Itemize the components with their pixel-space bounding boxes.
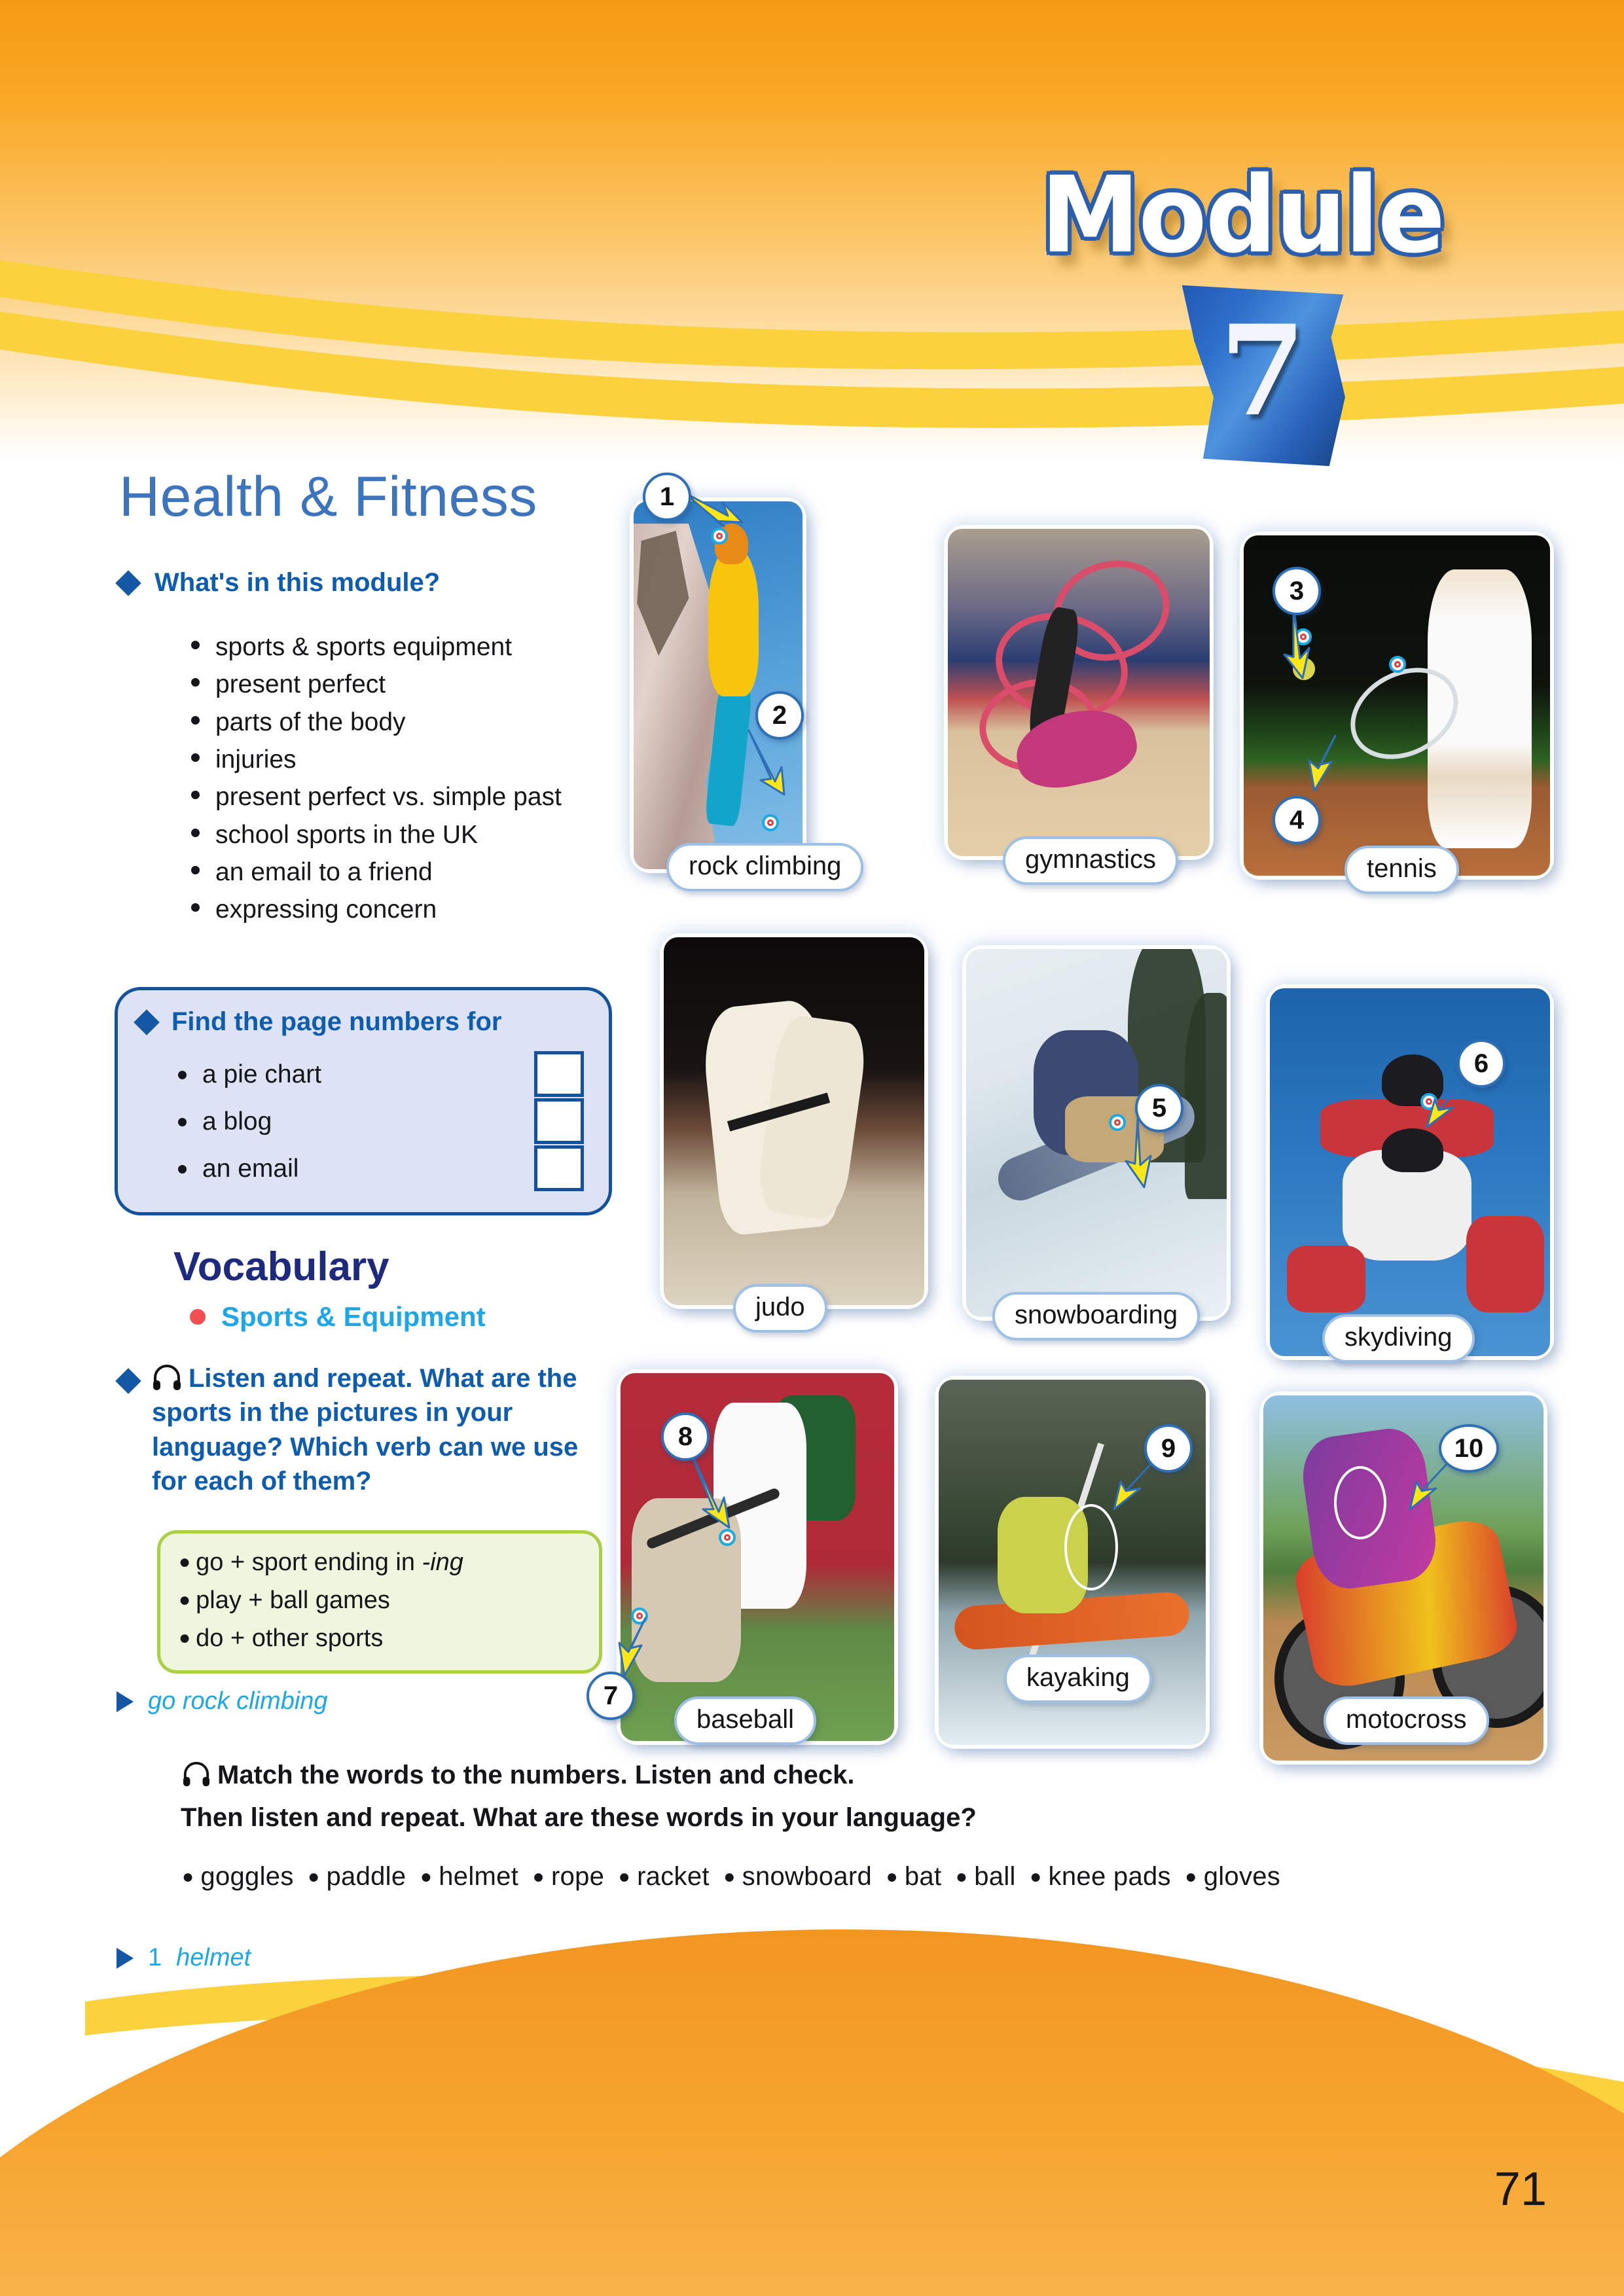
- number-badge-8: 8: [661, 1412, 710, 1461]
- answer-box-email[interactable]: [534, 1145, 584, 1191]
- list-item-label: go + sport ending in: [196, 1549, 422, 1576]
- list-item: a blog: [178, 1098, 589, 1145]
- list-item: sports & sports equipment: [191, 628, 562, 666]
- sport-card-snowboarding[interactable]: [966, 949, 1227, 1317]
- ellipse-marker-gloves: [1334, 1466, 1386, 1539]
- round-bullet-icon: [191, 903, 200, 912]
- sport-label-judo: judo: [733, 1284, 827, 1333]
- whats-in-module-heading-label: What's in this module?: [154, 568, 440, 598]
- list-item-label: injuries: [215, 741, 297, 778]
- number-badge-9: 9: [1144, 1424, 1193, 1473]
- round-bullet-icon: ●: [619, 1866, 630, 1888]
- round-bullet-icon: ●: [179, 1551, 190, 1573]
- word-item: bat: [905, 1862, 942, 1891]
- number-badge-2: 2: [755, 691, 804, 740]
- answer-boxes: [534, 1051, 584, 1193]
- list-item-label: present perfect: [215, 666, 386, 703]
- page-number: 71: [1494, 2162, 1547, 2216]
- callout-arrow-4: [1301, 713, 1354, 802]
- round-bullet-icon: ●: [308, 1866, 319, 1888]
- list-item-label: an email to a friend: [215, 853, 433, 891]
- sport-label-skydiving: skydiving: [1322, 1314, 1475, 1363]
- sport-card-gymnastics[interactable]: [948, 529, 1210, 856]
- word-item: goggles: [200, 1862, 293, 1891]
- list-item-label: sports & sports equipment: [215, 628, 512, 666]
- example-answer-1-label: go rock climbing: [148, 1687, 328, 1715]
- callout-arrow-1: [679, 484, 758, 543]
- answer-box-blog[interactable]: [534, 1098, 584, 1144]
- find-page-numbers-rows: a pie chart a blog an email: [137, 1051, 589, 1193]
- round-bullet-icon: ●: [886, 1866, 897, 1888]
- round-bullet-icon: ●: [956, 1866, 967, 1888]
- list-item-label: play + ball games: [196, 1587, 390, 1614]
- triangle-marker-icon: [117, 1691, 134, 1712]
- list-item-emphasis: -ing: [422, 1549, 463, 1576]
- sport-label-tennis: tennis: [1344, 846, 1459, 894]
- round-bullet-icon: [191, 866, 200, 874]
- callout-arrow-3: [1279, 602, 1325, 687]
- list-item: ●do + other sports: [179, 1620, 581, 1658]
- list-item-label: a pie chart: [202, 1060, 321, 1089]
- module-number: 7: [1175, 281, 1350, 468]
- word-item: rope: [551, 1862, 604, 1891]
- list-item: expressing concern: [191, 891, 562, 928]
- round-bullet-icon: ●: [533, 1866, 545, 1888]
- climber-jacket: [708, 549, 759, 696]
- whats-in-module-heading: What's in this module?: [119, 568, 440, 598]
- equipment-word-list: ●goggles ●paddle ●helmet ●rope ●racket ●…: [175, 1862, 1280, 1892]
- word-item: gloves: [1204, 1862, 1280, 1891]
- list-item: a pie chart: [178, 1051, 589, 1098]
- example-answer-1: go rock climbing: [117, 1687, 328, 1715]
- number-badge-3: 3: [1272, 567, 1321, 615]
- photo-skydiving: [1270, 988, 1550, 1356]
- round-bullet-icon: ●: [420, 1866, 432, 1888]
- round-bullet-icon: ●: [723, 1866, 735, 1888]
- task-match-words-line2: Then listen and repeat. What are these w…: [181, 1797, 1295, 1839]
- round-bullet-icon: [178, 1071, 187, 1079]
- list-item: ●play + ball games: [179, 1582, 581, 1620]
- diamond-bullet-icon: [115, 1368, 141, 1394]
- skydiver-leg: [1287, 1246, 1365, 1312]
- answer-box-pie-chart[interactable]: [534, 1051, 584, 1097]
- list-item-label: school sports in the UK: [215, 816, 478, 853]
- round-bullet-icon: [191, 753, 200, 762]
- diamond-bullet-icon: [115, 570, 141, 596]
- sport-label-motocross: motocross: [1324, 1696, 1489, 1745]
- photo-baseball: [621, 1373, 894, 1741]
- list-item-label: present perfect vs. simple past: [215, 778, 562, 816]
- task-match-words: Match the words to the numbers. Listen a…: [182, 1754, 1295, 1839]
- list-item-label: do + other sports: [196, 1624, 383, 1652]
- round-bullet-icon: [178, 1118, 187, 1126]
- number-badge-1: 1: [643, 473, 691, 521]
- callout-arrow-7: [610, 1597, 662, 1682]
- round-bullet-icon: ●: [1030, 1866, 1041, 1888]
- round-bullet-icon: [191, 678, 200, 687]
- verb-patterns-box: ●go + sport ending in -ing ●play + ball …: [157, 1530, 602, 1674]
- sport-card-skydiving[interactable]: [1270, 988, 1550, 1356]
- task-listen-and-repeat: Listen and repeat. What are the sports i…: [119, 1361, 604, 1499]
- list-item: an email: [178, 1145, 589, 1193]
- round-bullet-icon: [191, 641, 200, 649]
- target-marker-racket: [1389, 656, 1406, 673]
- skydiver-leg: [1466, 1216, 1545, 1312]
- module-number-badge: 7: [1175, 281, 1350, 468]
- sport-label-gymnastics: gymnastics: [1003, 836, 1178, 885]
- word-item: snowboard: [742, 1862, 872, 1891]
- list-item: parts of the body: [191, 704, 562, 741]
- word-item: ball: [974, 1862, 1015, 1891]
- target-marker-rope: [762, 814, 779, 831]
- headphones-icon: [152, 1365, 182, 1391]
- photo-rock-climbing: [634, 501, 803, 869]
- task-listen-and-repeat-text-wrap: Listen and repeat. What are the sports i…: [152, 1361, 604, 1499]
- sport-card-judo[interactable]: [664, 937, 924, 1305]
- photo-judo: [664, 937, 924, 1305]
- callout-arrow-2: [738, 726, 810, 812]
- round-bullet-icon: ●: [179, 1627, 190, 1649]
- list-item: present perfect vs. simple past: [191, 778, 562, 816]
- list-item-label: a blog: [202, 1107, 272, 1136]
- list-item-label: expressing concern: [215, 891, 437, 928]
- word-item: paddle: [326, 1862, 406, 1891]
- word-item: knee pads: [1049, 1862, 1171, 1891]
- headphones-icon: [182, 1761, 211, 1787]
- round-bullet-icon: ●: [1185, 1866, 1197, 1888]
- find-page-numbers-heading: Find the page numbers for: [137, 1007, 589, 1037]
- sport-label-baseball: baseball: [674, 1696, 816, 1745]
- round-bullet-icon: [191, 829, 200, 837]
- round-bullet-icon: ●: [179, 1589, 190, 1611]
- list-item: present perfect: [191, 666, 562, 703]
- round-bullet-icon: [191, 716, 200, 725]
- task-listen-and-repeat-label: Listen and repeat. What are the sports i…: [152, 1364, 578, 1496]
- sport-label-snowboarding: snowboarding: [992, 1292, 1200, 1340]
- list-item: ●go + sport ending in -ing: [179, 1544, 581, 1582]
- list-item-label: parts of the body: [215, 704, 406, 741]
- number-badge-7: 7: [586, 1672, 635, 1720]
- bottom-banner: [0, 1929, 1624, 2296]
- word-item: racket: [637, 1862, 710, 1891]
- number-badge-4: 4: [1272, 796, 1321, 844]
- callout-arrow-8: [683, 1446, 742, 1545]
- photo-snowboarding: [966, 949, 1227, 1317]
- photo-gymnastics: [948, 529, 1210, 856]
- find-page-numbers-box: Find the page numbers for a pie chart a …: [115, 987, 612, 1215]
- word-item: helmet: [439, 1862, 518, 1891]
- diamond-bullet-icon: [134, 1009, 160, 1035]
- round-bullet-icon: [178, 1165, 187, 1174]
- sport-label-rock-climbing: rock climbing: [666, 843, 863, 891]
- sport-label-kayaking: kayaking: [1004, 1655, 1152, 1703]
- number-badge-6: 6: [1457, 1039, 1506, 1088]
- tree-shape: [1185, 993, 1227, 1199]
- list-item-label: an email: [202, 1155, 298, 1183]
- vocabulary-subtitle: Sports & Equipment: [190, 1301, 486, 1333]
- verb-patterns-list: ●go + sport ending in -ing ●play + ball …: [179, 1544, 581, 1657]
- page-title: Health & Fitness: [119, 465, 537, 529]
- round-bullet-icon: [191, 791, 200, 799]
- list-item: injuries: [191, 741, 562, 778]
- vocabulary-subtitle-label: Sports & Equipment: [221, 1301, 486, 1333]
- find-page-numbers-heading-label: Find the page numbers for: [171, 1007, 501, 1037]
- sport-card-rock-climbing[interactable]: [634, 501, 803, 869]
- number-badge-10: 10: [1439, 1424, 1499, 1473]
- round-bullet-icon: ●: [182, 1866, 194, 1888]
- red-dot-icon: [190, 1309, 206, 1325]
- module-word: Module: [1041, 154, 1444, 277]
- module-contents-list: sports & sports equipment present perfec…: [191, 628, 562, 929]
- list-item: school sports in the UK: [191, 816, 562, 853]
- task-match-words-line1: Match the words to the numbers. Listen a…: [217, 1761, 855, 1789]
- number-badge-5: 5: [1135, 1084, 1183, 1132]
- vocabulary-title: Vocabulary: [173, 1244, 389, 1290]
- sport-card-baseball[interactable]: [621, 1373, 894, 1741]
- list-item: an email to a friend: [191, 853, 562, 891]
